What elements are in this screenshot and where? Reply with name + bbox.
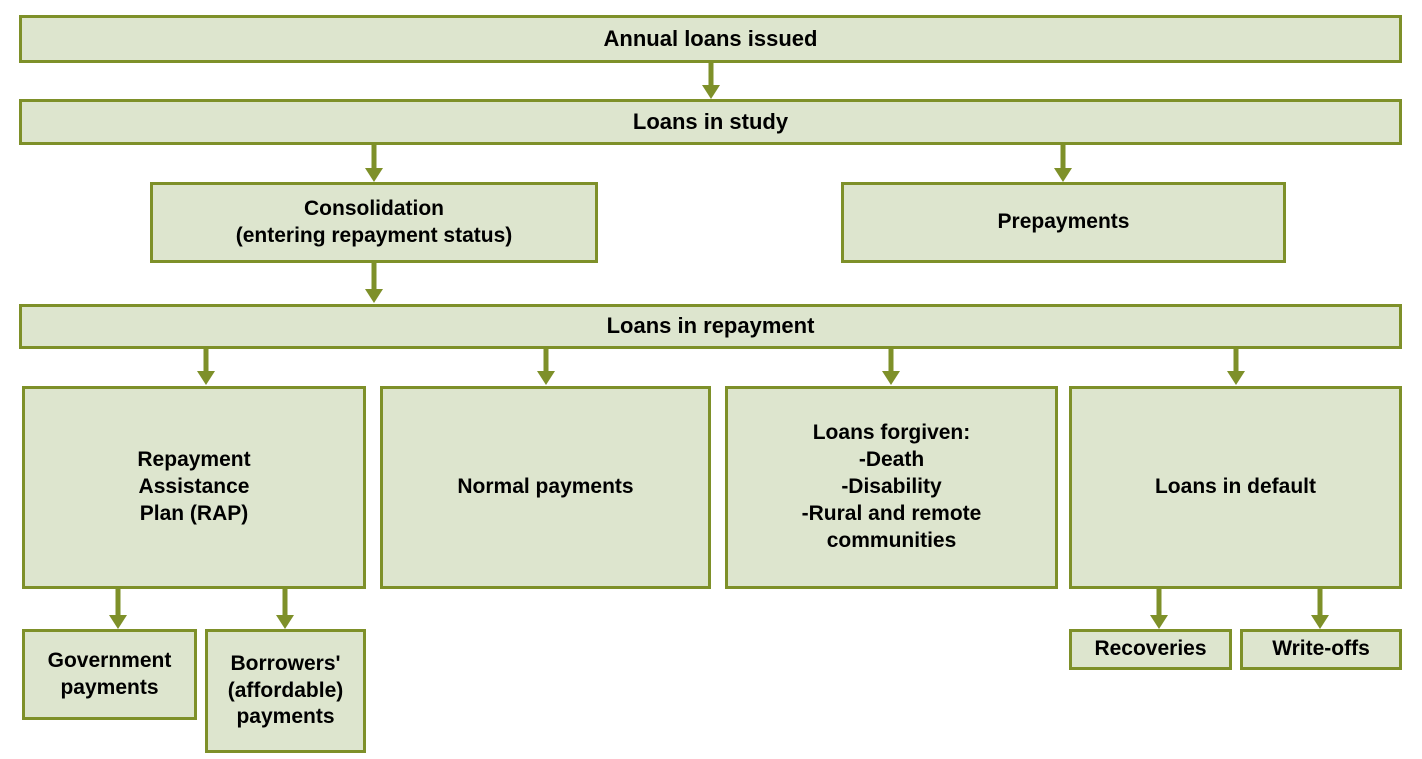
- node-loans-in-study: Loans in study: [19, 99, 1402, 145]
- node-prepayments: Prepayments: [841, 182, 1286, 263]
- node-government-payments: Government payments: [22, 629, 197, 720]
- node-recoveries: Recoveries: [1069, 629, 1232, 670]
- edge-shaft: [116, 589, 121, 615]
- edge-shaft: [372, 145, 377, 168]
- node-label: Borrowers' (affordable) payments: [208, 651, 363, 732]
- node-label: Recoveries: [1072, 636, 1229, 663]
- node-loans-forgiven: Loans forgiven: -Death -Disability -Rura…: [725, 386, 1058, 589]
- node-label: Loans in repayment: [22, 312, 1399, 340]
- edge-shaft: [204, 349, 209, 371]
- edge-arrowhead: [1227, 371, 1245, 385]
- node-label: Loans in study: [22, 108, 1399, 136]
- node-label: Government payments: [25, 648, 194, 702]
- edge-arrowhead: [1311, 615, 1329, 629]
- edge-arrowhead: [276, 615, 294, 629]
- flowchart-canvas: Annual loans issued Loans in study Conso…: [0, 0, 1422, 759]
- edge-arrowhead: [882, 371, 900, 385]
- node-label: Normal payments: [383, 474, 708, 501]
- edge-shaft: [709, 63, 714, 85]
- node-label: Repayment Assistance Plan (RAP): [25, 447, 363, 528]
- edge-shaft: [283, 589, 288, 615]
- node-label: Prepayments: [844, 209, 1283, 236]
- node-consolidation: Consolidation (entering repayment status…: [150, 182, 598, 263]
- edge-arrowhead: [197, 371, 215, 385]
- edge-arrowhead: [702, 85, 720, 99]
- node-label: Annual loans issued: [22, 25, 1399, 53]
- node-label: Consolidation (entering repayment status…: [153, 196, 595, 250]
- edge-arrowhead: [537, 371, 555, 385]
- node-loans-in-repayment: Loans in repayment: [19, 304, 1402, 349]
- edge-shaft: [889, 349, 894, 371]
- edge-arrowhead: [1150, 615, 1168, 629]
- edge-arrowhead: [109, 615, 127, 629]
- node-label: Loans forgiven: -Death -Disability -Rura…: [728, 420, 1055, 554]
- edge-arrowhead: [1054, 168, 1072, 182]
- node-annual-loans-issued: Annual loans issued: [19, 15, 1402, 63]
- node-borrowers-payments: Borrowers' (affordable) payments: [205, 629, 366, 753]
- edge-arrowhead: [365, 168, 383, 182]
- edge-shaft: [372, 263, 377, 289]
- edge-shaft: [1157, 589, 1162, 615]
- node-label: Loans in default: [1072, 474, 1399, 501]
- edge-arrowhead: [365, 289, 383, 303]
- node-label: Write-offs: [1243, 636, 1399, 663]
- node-normal-payments: Normal payments: [380, 386, 711, 589]
- node-loans-in-default: Loans in default: [1069, 386, 1402, 589]
- edge-shaft: [1061, 145, 1066, 168]
- edge-shaft: [1318, 589, 1323, 615]
- edge-shaft: [1234, 349, 1239, 371]
- node-repayment-assistance-plan: Repayment Assistance Plan (RAP): [22, 386, 366, 589]
- node-write-offs: Write-offs: [1240, 629, 1402, 670]
- edge-shaft: [544, 349, 549, 371]
